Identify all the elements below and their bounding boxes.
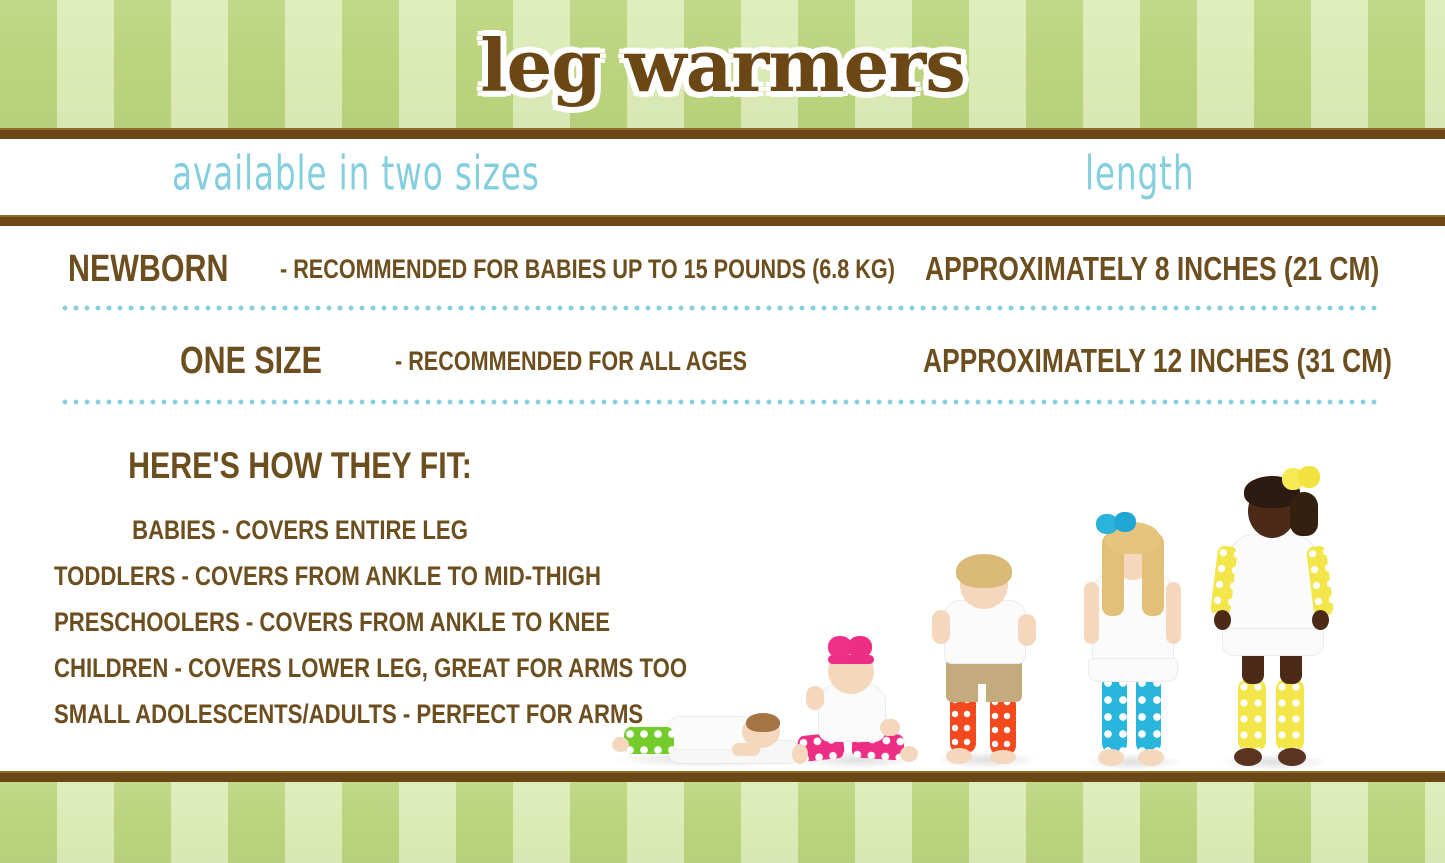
- dress-ruffle: [1222, 628, 1324, 656]
- size-row-one-size: ONE SIZE - RECOMMENDED FOR ALL AGES APPR…: [0, 340, 1445, 382]
- leg-warmer-green: [624, 727, 674, 754]
- size-length-one-size: APPROXIMATELY 12 INCHES (31 CM): [923, 340, 1392, 382]
- baby-arm: [732, 743, 760, 756]
- page-title: leg warmers: [0, 20, 1445, 112]
- size-name-one-size: ONE SIZE: [180, 340, 322, 382]
- girl-hand: [1312, 610, 1329, 630]
- list-item: BABIES - COVERS ENTIRE LEG: [54, 507, 546, 553]
- shorts-gap: [978, 684, 986, 702]
- leg-warmer-blue: [1136, 676, 1161, 752]
- header-length: length: [1085, 147, 1194, 201]
- girl-foot: [1138, 749, 1164, 766]
- dress-ruffle: [1088, 658, 1178, 682]
- divider-rule-bottom: [0, 771, 1445, 782]
- size-separator: -: [395, 346, 402, 376]
- baby-arm: [880, 719, 900, 736]
- fit-section: HERE'S HOW THEY FIT: BABIES - COVERS ENT…: [0, 443, 600, 737]
- size-length-newborn: APPROXIMATELY 8 INCHES (21 CM): [925, 248, 1379, 290]
- size-description-newborn: - RECOMMENDED FOR BABIES UP TO 15 POUNDS…: [280, 248, 895, 290]
- leg-warmer-orange: [950, 694, 976, 752]
- baby-foot: [792, 744, 808, 764]
- model-photo-group: [600, 420, 1445, 772]
- girl-foot: [1234, 748, 1262, 766]
- toddler-shirt: [944, 600, 1026, 664]
- fit-list: BABIES - COVERS ENTIRE LEG TODDLERS - CO…: [0, 507, 600, 737]
- size-description-one-size: - RECOMMENDED FOR ALL AGES: [395, 340, 747, 382]
- yellow-bow: [1298, 466, 1320, 488]
- leg-warmer-orange: [990, 696, 1016, 754]
- list-item: CHILDREN - COVERS LOWER LEG, GREAT FOR A…: [54, 645, 546, 691]
- divider-rule-second: [0, 215, 1445, 226]
- girl-foot: [1098, 749, 1124, 766]
- girl-arm: [1166, 582, 1181, 644]
- girl-hand: [1214, 610, 1231, 630]
- size-separator: -: [280, 254, 287, 284]
- baby-foot: [612, 737, 629, 752]
- leg-warmer-blue: [1102, 676, 1127, 752]
- dotted-divider-1: [62, 305, 1380, 311]
- baby-arm: [806, 686, 824, 710]
- pink-bow: [848, 636, 872, 658]
- divider-rule-top: [0, 128, 1445, 139]
- header-available-sizes: available in two sizes: [172, 147, 540, 201]
- model-baby-lying: [610, 702, 800, 764]
- blue-bow: [1114, 512, 1136, 532]
- girl-foot: [1278, 748, 1306, 766]
- list-item: SMALL ADOLESCENTS/ADULTS - PERFECT FOR A…: [54, 691, 546, 737]
- dotted-divider-2: [62, 399, 1380, 405]
- leg-warmer-yellow: [1238, 680, 1266, 750]
- bottom-stripe-background: [0, 782, 1445, 863]
- model-child-girl: [1208, 434, 1338, 766]
- girl-ponytail: [1290, 492, 1318, 536]
- toddler-hair: [956, 554, 1012, 588]
- column-header-row: available in two sizes length: [0, 139, 1445, 215]
- toddler-foot: [946, 748, 972, 764]
- list-item: PRESCHOOLERS - COVERS FROM ANKLE TO KNEE: [54, 599, 546, 645]
- fit-section-title: HERE'S HOW THEY FIT:: [54, 443, 546, 489]
- model-preschooler-girl: [1078, 484, 1188, 766]
- model-toddler-standing: [930, 549, 1040, 764]
- size-row-newborn: NEWBORN - RECOMMENDED FOR BABIES UP TO 1…: [0, 248, 1445, 290]
- size-description-text: RECOMMENDED FOR BABIES UP TO 15 POUNDS (…: [293, 254, 895, 284]
- girl-arm: [1084, 582, 1099, 644]
- toddler-foot: [990, 750, 1016, 764]
- list-item: TODDLERS - COVERS FROM ANKLE TO MID-THIG…: [54, 553, 546, 599]
- size-name-newborn: NEWBORN: [68, 248, 228, 290]
- toddler-arm: [932, 610, 950, 644]
- toddler-arm: [1018, 614, 1036, 646]
- poster-root: leg warmers available in two sizes lengt…: [0, 0, 1445, 863]
- model-baby-sitting: [792, 629, 922, 764]
- baby-foot: [900, 746, 918, 762]
- leg-warmer-yellow: [1276, 680, 1304, 750]
- size-description-text: RECOMMENDED FOR ALL AGES: [408, 346, 747, 376]
- baby-hair: [746, 713, 780, 732]
